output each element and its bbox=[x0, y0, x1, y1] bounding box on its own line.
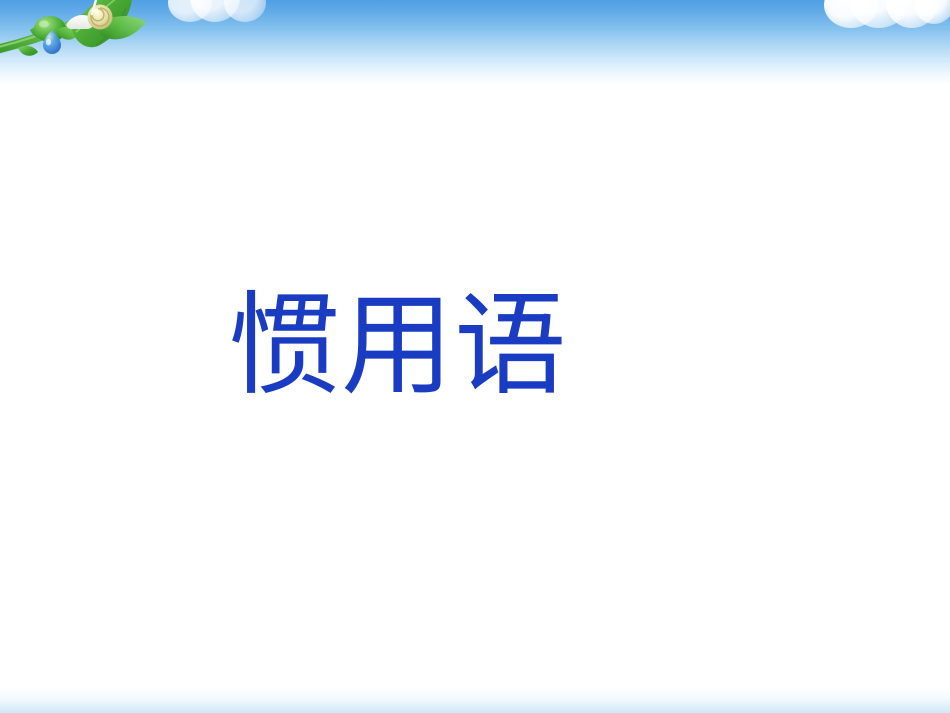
slide-canvas: 惯用语 bbox=[0, 0, 950, 713]
footer-band bbox=[0, 687, 950, 713]
page-title: 惯用语 bbox=[228, 288, 567, 406]
vine-decoration bbox=[0, 0, 160, 72]
leaf bbox=[18, 46, 38, 56]
